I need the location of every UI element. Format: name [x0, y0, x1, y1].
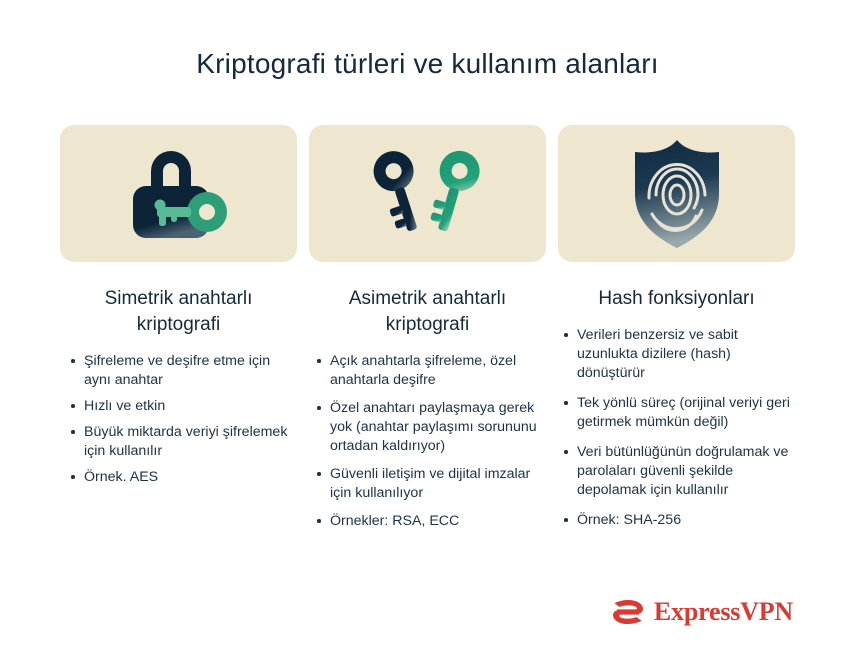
shield-fingerprint-icon [625, 138, 729, 250]
column-asymmetric-cryptography: Asimetrik anahtarlı kriptografi Açık ana… [309, 125, 546, 541]
list-item: Güvenli iletişim ve dijital imzalar için… [315, 465, 539, 503]
two-keys-icon [363, 144, 493, 244]
logo-wordmark: ExpressVPN [654, 597, 793, 627]
expressvpn-logo: ExpressVPN [611, 597, 793, 627]
page-title: Kriptografi türleri ve kullanım alanları [0, 48, 855, 80]
icon-card-hash [558, 125, 795, 262]
expressvpn-logo-mark [611, 598, 645, 626]
column-hash-functions: Hash fonksiyonları Verileri benzersiz ve… [558, 125, 795, 541]
column-heading-hash: Hash fonksiyonları [558, 286, 795, 312]
padlock-with-key-icon [119, 144, 239, 244]
icon-card-asymmetric [309, 125, 546, 262]
list-item: Verileri benzersiz ve sabit uzunlukta di… [562, 326, 802, 383]
list-item: Örnekler: RSA, ECC [315, 512, 539, 531]
list-item: Veri bütünlüğünün doğrulamak ve parolala… [562, 443, 802, 500]
list-item: Örnek. AES [69, 468, 293, 487]
column-symmetric-cryptography: Simetrik anahtarlı kriptografi Şifreleme… [60, 125, 297, 541]
list-item: Tek yönlü süreç (orijinal veriyi geri ge… [562, 394, 802, 432]
column-heading-asymmetric: Asimetrik anahtarlı kriptografi [309, 286, 546, 338]
bullet-list-asymmetric: Açık anahtarla şifreleme, özel anahtarla… [315, 352, 539, 540]
bullet-list-symmetric: Şifreleme ve deşifre etme için aynı anah… [69, 352, 293, 494]
list-item: Açık anahtarla şifreleme, özel anahtarla… [315, 352, 539, 390]
list-item: Hızlı ve etkin [69, 397, 293, 416]
columns-container: Simetrik anahtarlı kriptografi Şifreleme… [60, 125, 795, 541]
list-item: Şifreleme ve deşifre etme için aynı anah… [69, 352, 293, 390]
list-item: Büyük miktarda veriyi şifrelemek için ku… [69, 423, 293, 461]
infographic-page: Kriptografi türleri ve kullanım alanları [0, 0, 855, 657]
column-heading-symmetric: Simetrik anahtarlı kriptografi [60, 286, 297, 338]
green-key-shape [423, 146, 484, 236]
bullet-list-hash: Verileri benzersiz ve sabit uzunlukta di… [562, 326, 802, 541]
icon-card-symmetric [60, 125, 297, 262]
dark-key-shape [368, 145, 431, 235]
list-item: Örnek: SHA-256 [562, 511, 802, 530]
list-item: Özel anahtarı paylaşmaya gerek yok (anah… [315, 399, 539, 456]
